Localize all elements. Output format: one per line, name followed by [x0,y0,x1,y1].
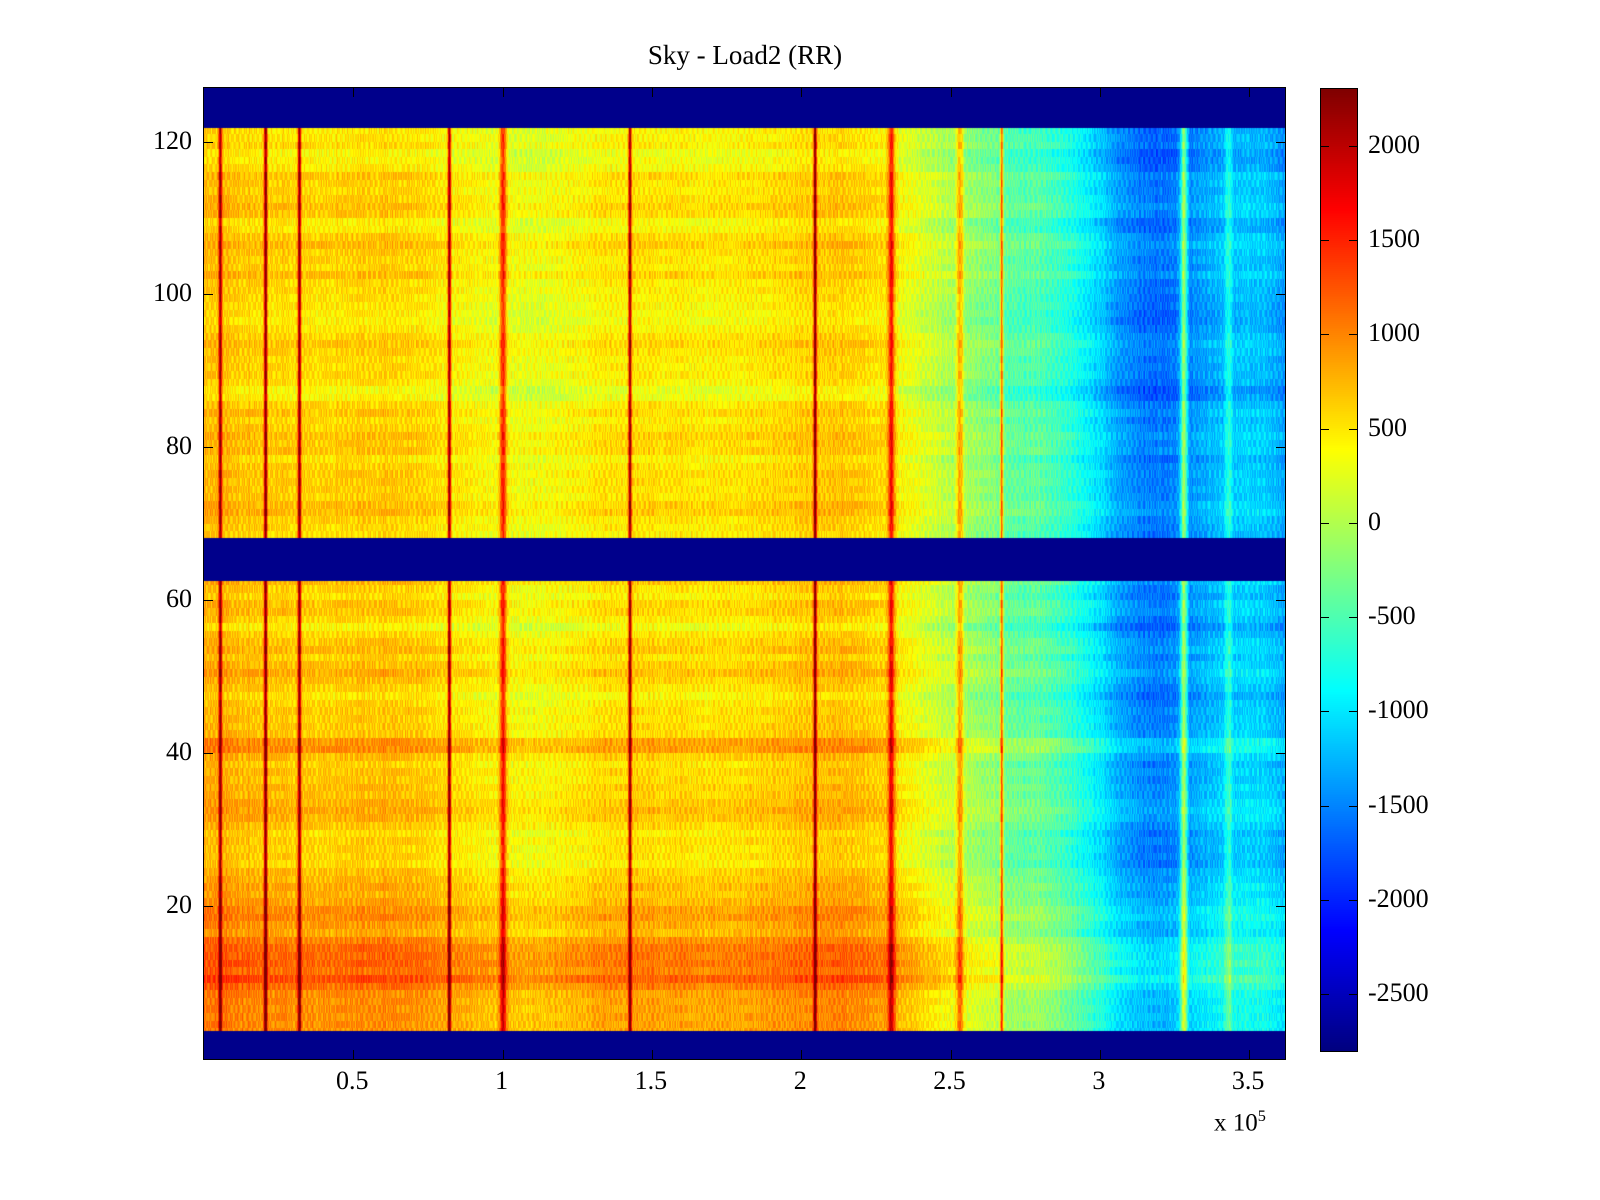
x-axis-tick-top [503,88,504,97]
x-axis-ticklabel: 3 [1092,1066,1105,1096]
x-axis-tick-top [353,88,354,97]
y-axis-tick-right [1276,753,1285,754]
x-axis-tick-top [1100,88,1101,97]
colorbar[interactable] [1320,88,1358,1052]
y-axis-ticklabel: 120 [153,126,192,156]
colorbar-ticklabel: 2000 [1368,130,1420,160]
x-axis-ticklabel: 3.5 [1232,1066,1265,1096]
x-axis-exponent-label: x 105 [1214,1107,1266,1137]
colorbar-ticklabel: 0 [1368,507,1381,537]
colorbar-tick-right [1349,900,1357,901]
colorbar-tick [1321,240,1329,241]
y-axis-tick-right [1276,294,1285,295]
colorbar-gradient [1321,89,1357,1051]
x-axis-tick [801,1050,802,1059]
colorbar-tick-right [1349,806,1357,807]
y-axis-ticklabel: 80 [166,431,192,461]
x-exponent-power: 5 [1258,1107,1266,1125]
x-axis-tick [951,1050,952,1059]
y-axis-tick-right [1276,142,1285,143]
y-axis-tick-right [1276,447,1285,448]
matlab-figure: Sky - Load2 (RR) 0.511.522.533.5 2040608… [0,0,1600,1200]
colorbar-tick [1321,146,1329,147]
x-axis-tick-top [951,88,952,97]
colorbar-tick-right [1349,523,1357,524]
colorbar-tick [1321,617,1329,618]
colorbar-tick-right [1349,429,1357,430]
y-axis-ticklabel: 20 [166,890,192,920]
colorbar-ticklabel: -2000 [1368,884,1429,914]
colorbar-tick-right [1349,334,1357,335]
colorbar-tick [1321,523,1329,524]
colorbar-tick [1321,429,1329,430]
colorbar-tick-right [1349,240,1357,241]
colorbar-tick-right [1349,994,1357,995]
colorbar-ticklabel: -500 [1368,601,1416,631]
colorbar-ticklabel: 1500 [1368,224,1420,254]
y-axis-ticklabel: 100 [153,278,192,308]
x-axis-ticklabel: 1.5 [635,1066,668,1096]
colorbar-tick [1321,711,1329,712]
y-axis-tick [204,142,213,143]
x-axis-ticklabel: 1 [495,1066,508,1096]
y-axis-tick [204,294,213,295]
y-axis-tick [204,447,213,448]
colorbar-tick [1321,900,1329,901]
x-axis-ticklabel: 0.5 [336,1066,369,1096]
x-axis-tick-top [1249,88,1250,97]
colorbar-ticklabel: 500 [1368,413,1407,443]
colorbar-tick-right [1349,146,1357,147]
y-axis-tick [204,753,213,754]
colorbar-tick-right [1349,617,1357,618]
colorbar-ticklabel: 1000 [1368,318,1420,348]
colorbar-tick [1321,334,1329,335]
y-axis-tick [204,600,213,601]
colorbar-tick-right [1349,711,1357,712]
heatmap-image [204,88,1285,1059]
colorbar-tick [1321,994,1329,995]
x-axis-tick [1100,1050,1101,1059]
x-axis-tick [1249,1050,1250,1059]
colorbar-ticklabel: -2500 [1368,978,1429,1008]
y-axis-ticklabel: 40 [166,737,192,767]
y-axis-tick [204,906,213,907]
chart-title: Sky - Load2 (RR) [0,40,1490,71]
colorbar-tick [1321,806,1329,807]
y-axis-tick-right [1276,906,1285,907]
x-axis-tick [503,1050,504,1059]
x-axis-tick [353,1050,354,1059]
heatmap-axes[interactable] [203,87,1286,1060]
y-axis-ticklabel: 60 [166,584,192,614]
colorbar-ticklabel: -1000 [1368,695,1429,725]
x-axis-tick [652,1050,653,1059]
x-axis-tick-top [801,88,802,97]
colorbar-ticklabel: -1500 [1368,790,1429,820]
y-axis-tick-right [1276,600,1285,601]
x-axis-ticklabel: 2.5 [933,1066,966,1096]
x-exponent-mantissa: x 10 [1214,1109,1258,1136]
x-axis-ticklabel: 2 [794,1066,807,1096]
x-axis-tick-top [652,88,653,97]
